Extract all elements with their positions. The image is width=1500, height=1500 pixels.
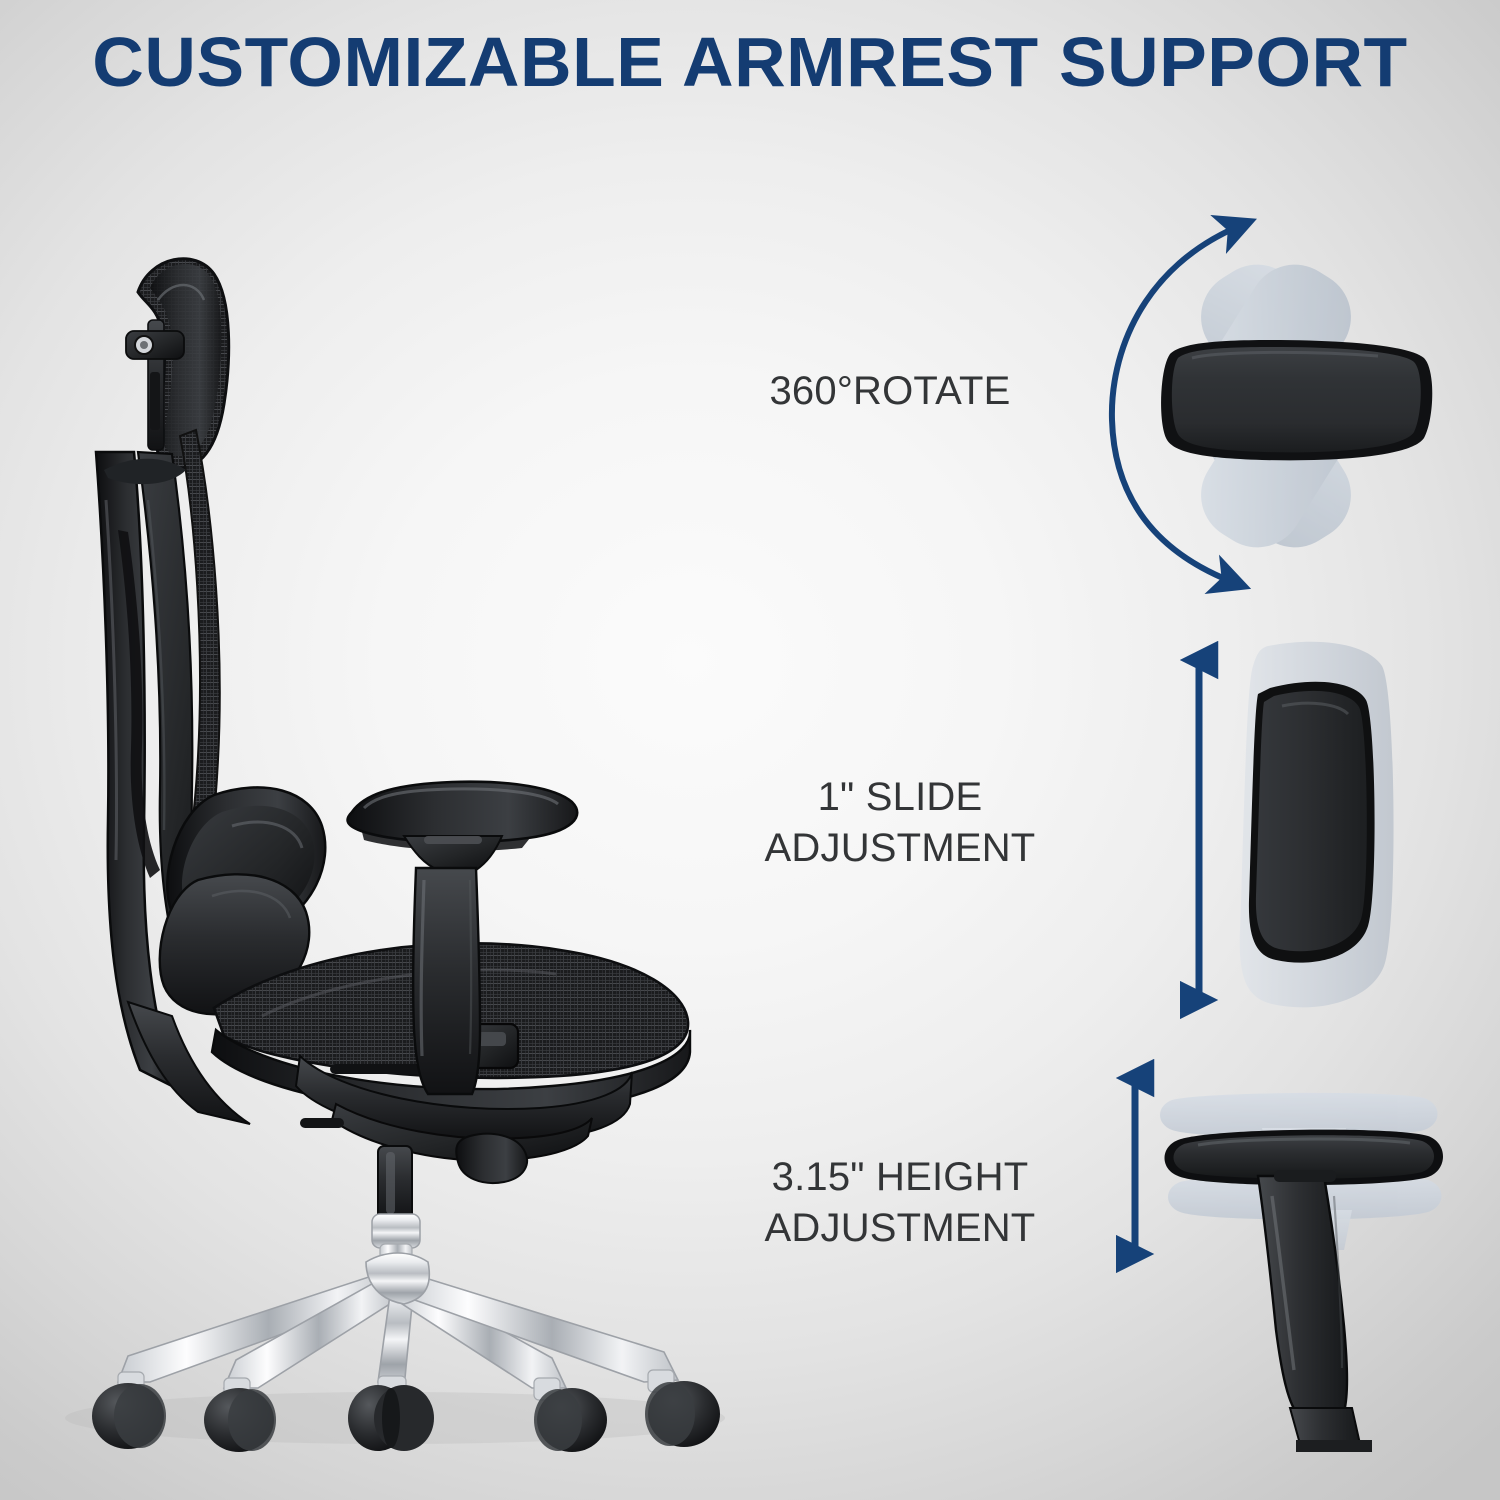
- headrest: [126, 259, 229, 468]
- gas-lift-cylinder: [372, 1146, 420, 1274]
- armrest-pad-front-view: [1249, 682, 1375, 963]
- product-feature-poster: CUSTOMIZABLE ARMREST SUPPORT: [0, 0, 1500, 1500]
- caster: [204, 1378, 276, 1452]
- armrest-pad-top-view: [1161, 340, 1432, 460]
- slide-diagram: [0, 0, 1500, 1500]
- lumbar-support: [160, 787, 326, 1014]
- rotate-arc-arrow: [1112, 224, 1244, 584]
- chrome-five-star-base: [118, 1253, 678, 1388]
- t-shaped-armrest: [348, 782, 578, 1094]
- caster: [348, 1376, 434, 1451]
- feature-label-rotate: 360°ROTATE: [700, 366, 1080, 417]
- feature-label-slide: 1" SLIDE ADJUSTMENT: [700, 772, 1100, 874]
- rotate-diagram: [0, 0, 1500, 1500]
- mesh-backrest: [96, 430, 250, 1124]
- casters: [92, 1370, 720, 1452]
- ghost-slide-range: [1240, 642, 1394, 1008]
- ghost-height-range: [1160, 1093, 1442, 1250]
- height-diagram: [0, 0, 1500, 1500]
- armrest-post-side-view: [1165, 1130, 1444, 1452]
- caster: [534, 1378, 607, 1452]
- mesh-seat: [212, 943, 690, 1141]
- chair-illustration: [0, 0, 1500, 1500]
- page-title: CUSTOMIZABLE ARMREST SUPPORT: [0, 22, 1500, 102]
- tilt-mechanism: [300, 1104, 592, 1183]
- caster: [92, 1372, 166, 1449]
- feature-label-height: 3.15" HEIGHT ADJUSTMENT: [690, 1152, 1110, 1254]
- caster: [645, 1370, 720, 1447]
- ghost-armrest-pads: [1184, 247, 1369, 564]
